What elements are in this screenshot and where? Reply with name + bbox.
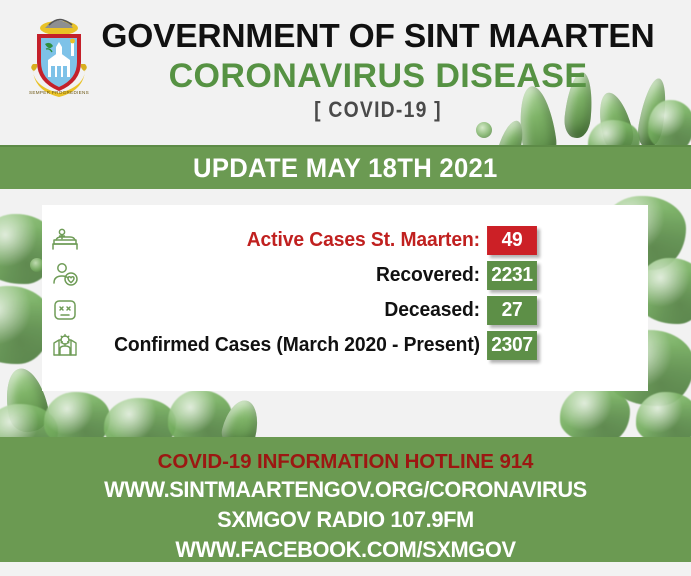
stat-label: Confirmed Cases (March 2020 - Present) bbox=[110, 333, 480, 357]
svg-text:SEMPER PROGREDIENS: SEMPER PROGREDIENS bbox=[29, 90, 89, 95]
page-subtitle: CORONAVIRUS DISEASE bbox=[98, 56, 658, 96]
stat-label: Recovered: bbox=[110, 263, 480, 287]
person-recovered-icon bbox=[50, 260, 80, 290]
update-banner: UPDATE MAY 18TH 2021 bbox=[0, 145, 691, 189]
stat-value-badge: 49 bbox=[487, 226, 537, 255]
page-title: GOVERNMENT OF SINT MAARTEN bbox=[98, 18, 658, 56]
stat-row: Recovered: 2231 bbox=[42, 258, 648, 292]
stat-row: Confirmed Cases (March 2020 - Present) 2… bbox=[42, 328, 648, 362]
stat-value-badge: 2231 bbox=[487, 261, 537, 290]
covid-update-poster: SEMPER PROGREDIENS GOVERNMENT OF SINT MA… bbox=[0, 0, 691, 576]
stat-label: Deceased: bbox=[110, 298, 480, 322]
bottom-strip bbox=[0, 562, 691, 576]
confirmed-cases-icon bbox=[50, 330, 80, 360]
hotline-text: COVID-19 INFORMATION HOTLINE 914 bbox=[0, 448, 691, 475]
stat-row: Deceased: 27 bbox=[42, 293, 648, 327]
title-block: GOVERNMENT OF SINT MAARTEN CORONAVIRUS D… bbox=[98, 18, 658, 124]
hospital-bed-icon bbox=[50, 225, 80, 255]
stat-row: Active Cases St. Maarten: 49 bbox=[42, 223, 648, 257]
statistics-panel: Active Cases St. Maarten: 49 Recovered: … bbox=[42, 205, 648, 391]
coat-of-arms-icon: SEMPER PROGREDIENS bbox=[27, 16, 91, 104]
stat-value-badge: 2307 bbox=[487, 331, 537, 360]
poster-header: SEMPER PROGREDIENS GOVERNMENT OF SINT MA… bbox=[0, 0, 691, 142]
website-text[interactable]: WWW.SINTMAARTENGOV.ORG/CORONAVIRUS bbox=[10, 475, 680, 505]
facebook-text[interactable]: WWW.FACEBOOK.COM/SXMGOV bbox=[10, 535, 680, 565]
covid-tag: [ COVID-19 ] bbox=[132, 96, 625, 124]
update-date-text: UPDATE MAY 18TH 2021 bbox=[193, 153, 498, 184]
stat-value-badge: 27 bbox=[487, 296, 537, 325]
radio-text: SXMGOV RADIO 107.9FM bbox=[10, 505, 680, 535]
poster-footer: COVID-19 INFORMATION HOTLINE 914 WWW.SIN… bbox=[0, 437, 691, 562]
stat-label: Active Cases St. Maarten: bbox=[110, 228, 480, 252]
deceased-face-icon bbox=[50, 295, 80, 325]
